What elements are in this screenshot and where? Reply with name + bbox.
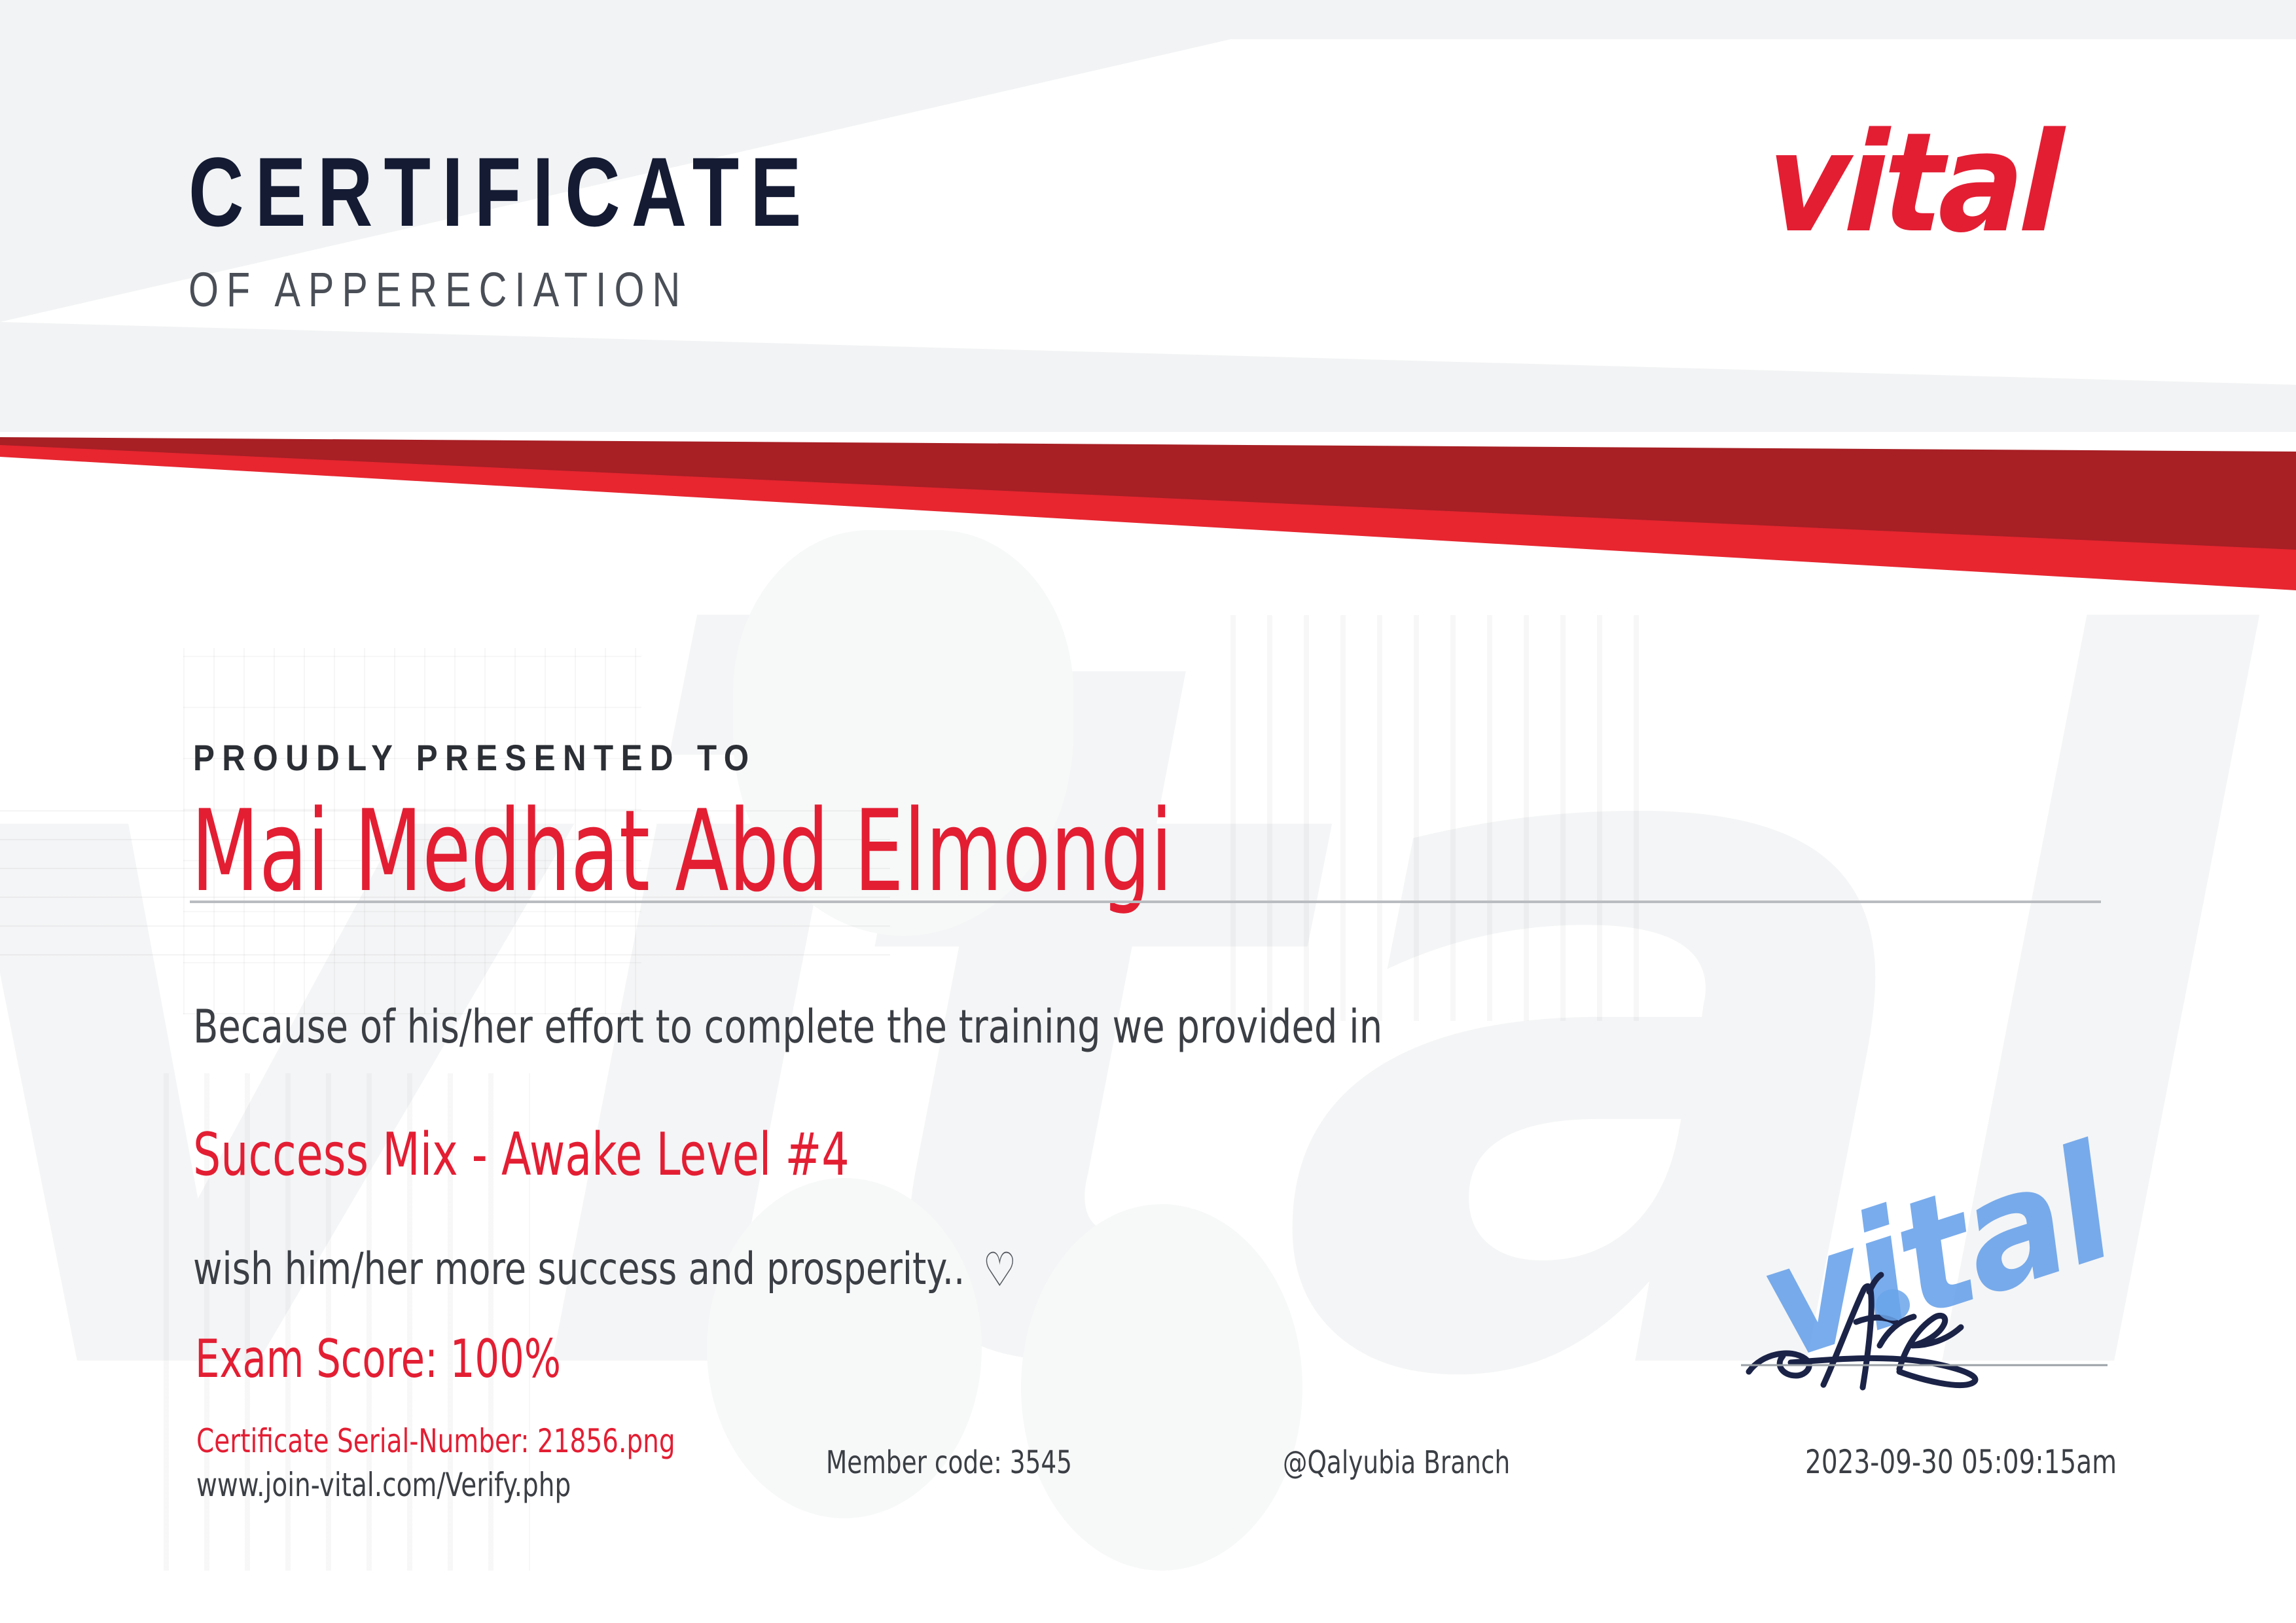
verify-url[interactable]: www.join-vital.com/Verify.php	[196, 1466, 571, 1504]
wish-line: wish him/her more success and prosperity…	[193, 1243, 965, 1295]
signature-icon	[1728, 1224, 2147, 1433]
wish-line-row: wish him/her more success and prosperity…	[193, 1243, 1016, 1295]
reason-line: Because of his/her effort to complete th…	[193, 1000, 1382, 1054]
member-code: Member code: 3545	[826, 1444, 1072, 1481]
course-title: Success Mix - Awake Level #4	[193, 1120, 850, 1189]
recipient-name-underline	[190, 901, 2101, 903]
vital-logo: vital	[1765, 115, 2060, 252]
page-subtitle: OF APPERECIATION	[188, 266, 829, 314]
recipient-name: Mai Medhat Abd Elmongi	[191, 795, 1172, 908]
title-block: CERTIFICATE OF APPERECIATION	[188, 143, 989, 314]
presented-to-label: PROUDLY PRESENTED TO	[193, 736, 756, 779]
branch-name: @Qalyubia Branch	[1283, 1444, 1510, 1481]
certificate-serial-number: Certificate Serial-Number: 21856.png	[196, 1422, 675, 1460]
page-title: CERTIFICATE	[188, 143, 813, 241]
heart-icon: ♡	[983, 1246, 1017, 1293]
exam-score: Exam Score: 100%	[195, 1329, 561, 1389]
stamp-and-signature: vital	[1728, 1204, 2173, 1466]
